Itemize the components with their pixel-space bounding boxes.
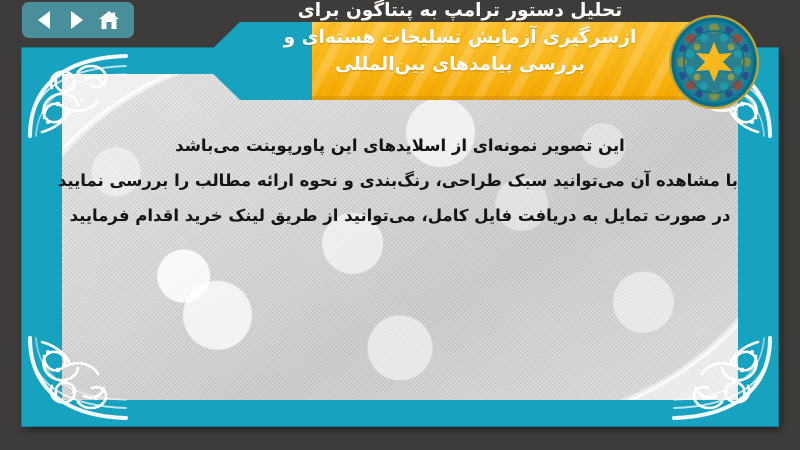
- back-icon: [36, 10, 54, 30]
- slide-viewer: تحلیل دستور ترامپ به پنتاگون برای ازسرگی…: [0, 0, 800, 450]
- home-icon: [98, 9, 120, 31]
- slide-canvas: [62, 74, 738, 400]
- back-button[interactable]: [36, 10, 54, 30]
- forward-icon: [67, 10, 85, 30]
- title-line-1: تحلیل دستور ترامپ به پنتاگون برای: [200, 0, 720, 24]
- persian-medallion-ornament: [666, 14, 762, 110]
- slide-body-text: این تصویر نمونه‌ای از اسلایدهای این پاور…: [62, 128, 738, 233]
- navigation-toolbar: [22, 2, 134, 38]
- decorative-sweep-bottom-right: [480, 250, 738, 400]
- title-line-3: بررسی پیامدهای بین‌المللی: [200, 51, 720, 78]
- home-button[interactable]: [98, 9, 120, 31]
- title-line-2: ازسرگیری آزمایش تسلیحات هسته‌ای و: [200, 24, 720, 51]
- slide-frame: [22, 48, 778, 426]
- body-line-1: این تصویر نمونه‌ای از اسلایدهای این پاور…: [62, 128, 738, 163]
- page-title: تحلیل دستور ترامپ به پنتاگون برای ازسرگی…: [200, 0, 720, 78]
- forward-button[interactable]: [67, 10, 85, 30]
- body-line-2: با مشاهده آن می‌توانید سبک طراحی، رنگ‌بن…: [62, 163, 738, 198]
- body-line-3: در صورت تمایل به دریافت فایل کامل، می‌تو…: [62, 198, 738, 233]
